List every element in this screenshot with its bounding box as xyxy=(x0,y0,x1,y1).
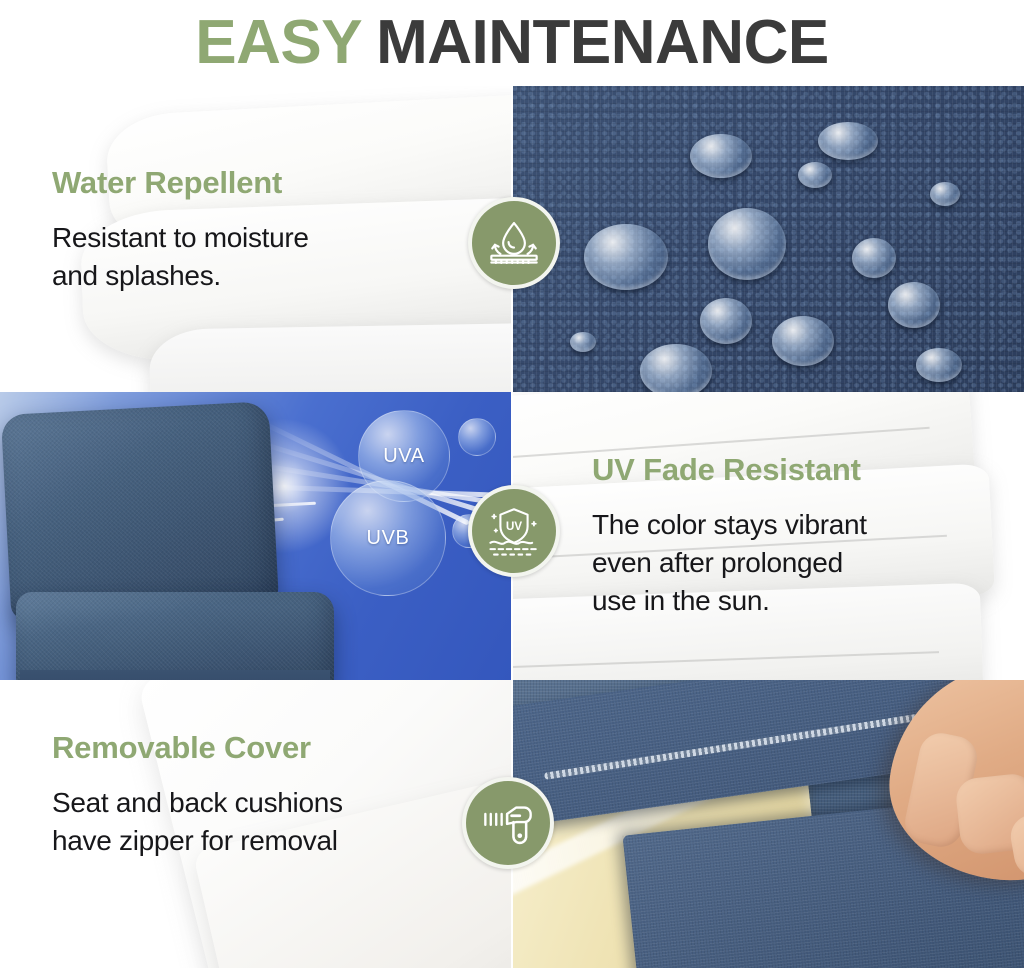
navy-seat-cushion xyxy=(16,592,334,680)
title-word-easy: EASY xyxy=(195,8,362,77)
uv-shield-icon: UV xyxy=(485,502,543,560)
cushion-shape xyxy=(149,322,512,392)
feature-body-line: Seat and back cushions xyxy=(52,784,343,822)
bubble-uvb-label: UVB xyxy=(367,527,410,550)
feature-body-line: use in the sun. xyxy=(592,582,867,620)
water-drop xyxy=(570,332,596,352)
panel-uv-chair-photo: UVA UVB xyxy=(0,392,512,680)
water-droplet-repel-icon xyxy=(485,214,543,272)
water-drop xyxy=(930,182,960,206)
feature-body-line: and splashes. xyxy=(52,257,309,295)
panel-zipper-photo xyxy=(512,680,1024,968)
feature-body-line: Resistant to moisture xyxy=(52,219,309,257)
feature-body-line: have zipper for removal xyxy=(52,822,343,860)
water-drop xyxy=(690,134,752,178)
feature-heading: UV Fade Resistant xyxy=(592,452,867,488)
badge-uv-fade-resistant: UV xyxy=(468,485,560,577)
fabric-texture xyxy=(1,401,279,621)
feature-text-uv-fade-resistant: UV Fade Resistant The color stays vibran… xyxy=(592,452,867,619)
feature-body-line: even after prolonged xyxy=(592,544,867,582)
water-drop xyxy=(700,298,752,344)
badge-water-repellent xyxy=(468,197,560,289)
feature-text-water-repellent: Water Repellent Resistant to moisture an… xyxy=(52,165,309,295)
cushion-seam xyxy=(512,651,939,669)
bubble-uvb: UVB xyxy=(330,480,446,596)
feature-heading: Water Repellent xyxy=(52,165,309,201)
fabric-texture xyxy=(16,592,334,680)
water-drop xyxy=(708,208,786,280)
water-drop xyxy=(916,348,962,382)
water-drop xyxy=(640,344,712,392)
svg-text:UV: UV xyxy=(506,520,522,533)
feature-text-removable-cover: Removable Cover Seat and back cushions h… xyxy=(52,730,343,860)
water-drop xyxy=(772,316,834,366)
page-header: EASYMAINTENANCE xyxy=(0,0,1024,86)
bubble-uva-label: UVA xyxy=(383,445,424,468)
navy-back-cushion xyxy=(1,401,279,621)
feature-heading: Removable Cover xyxy=(52,730,343,766)
water-drop xyxy=(584,224,668,290)
water-drop xyxy=(798,162,832,188)
bubble-small xyxy=(458,418,496,456)
badge-removable-cover xyxy=(462,777,554,869)
zipper-pull-icon xyxy=(479,794,537,852)
water-drop xyxy=(888,282,940,328)
title-word-maintenance: MAINTENANCE xyxy=(376,8,829,77)
water-drop xyxy=(818,122,878,160)
water-drop xyxy=(852,238,896,278)
feature-body-line: The color stays vibrant xyxy=(592,506,867,544)
page-title: EASYMAINTENANCE xyxy=(195,12,828,74)
panel-water-drops-photo xyxy=(512,86,1024,392)
navy-seat-front-edge xyxy=(20,670,330,680)
